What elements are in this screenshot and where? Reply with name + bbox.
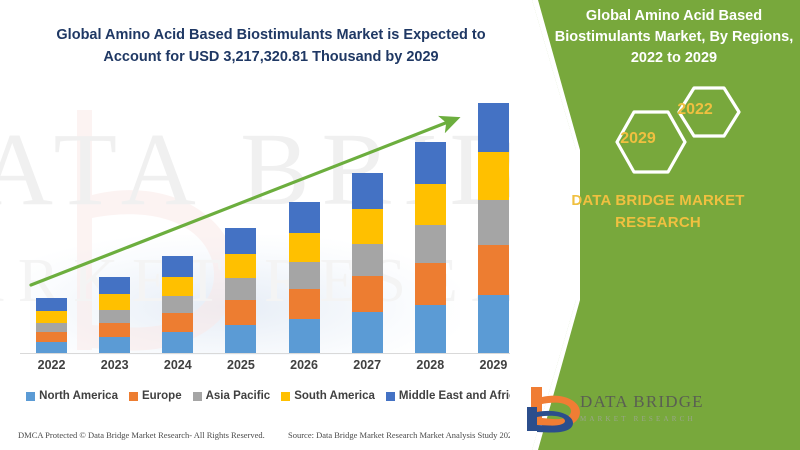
right-green-panel: Global Amino Acid Based Biostimulants Ma… xyxy=(510,0,800,450)
panel-brand-text: DATA BRIDGE MARKET RESEARCH xyxy=(528,190,788,234)
legend-label: Europe xyxy=(142,390,182,402)
footer-source: Source: Data Bridge Market Research Mark… xyxy=(288,430,517,440)
x-axis-label-2024: 2024 xyxy=(150,358,206,378)
logo-wordmark: DATA BRIDGE MARKET RESEARCH xyxy=(580,392,740,423)
logo-sub-text: MARKET RESEARCH xyxy=(580,415,740,423)
legend-item-asia-pacific[interactable]: Asia Pacific xyxy=(193,390,271,402)
panel-title: Global Amino Acid Based Biostimulants Ma… xyxy=(554,6,794,69)
chart-legend: North AmericaEuropeAsia PacificSouth Ame… xyxy=(14,387,534,405)
legend-item-europe[interactable]: Europe xyxy=(129,390,182,402)
hexagon-2022-label: 2022 xyxy=(665,101,725,119)
legend-label: South America xyxy=(294,390,375,402)
infographic-root: DATA BRIDGE MARKET RESEARCH Global Amino… xyxy=(0,0,800,450)
legend-swatch-icon xyxy=(26,392,35,401)
growth-arrow xyxy=(20,95,525,355)
logo-main-text: DATA BRIDGE xyxy=(580,392,740,412)
footer: DMCA Protected © Data Bridge Market Rese… xyxy=(0,428,560,450)
x-axis-label-2026: 2026 xyxy=(276,358,332,378)
legend-item-middle-east-and-africa[interactable]: Middle East and Africa xyxy=(386,390,522,402)
legend-item-north-america[interactable]: North America xyxy=(26,390,118,402)
legend-label: Middle East and Africa xyxy=(399,390,522,402)
x-axis-label-2022: 2022 xyxy=(24,358,80,378)
legend-swatch-icon xyxy=(193,392,202,401)
x-axis-labels: 20222023202420252026202720282029 xyxy=(20,358,525,378)
x-axis-label-2027: 2027 xyxy=(339,358,395,378)
legend-label: North America xyxy=(39,390,118,402)
legend-swatch-icon xyxy=(129,392,138,401)
footer-copyright: DMCA Protected © Data Bridge Market Rese… xyxy=(18,430,265,440)
chart-title: Global Amino Acid Based Biostimulants Ma… xyxy=(36,24,506,69)
legend-swatch-icon xyxy=(386,392,395,401)
x-axis-label-2028: 2028 xyxy=(402,358,458,378)
legend-label: Asia Pacific xyxy=(206,390,271,402)
x-axis-label-2025: 2025 xyxy=(213,358,269,378)
hexagon-2029-label: 2029 xyxy=(608,130,668,148)
legend-item-south-america[interactable]: South America xyxy=(281,390,375,402)
x-axis-label-2023: 2023 xyxy=(87,358,143,378)
legend-swatch-icon xyxy=(281,392,290,401)
